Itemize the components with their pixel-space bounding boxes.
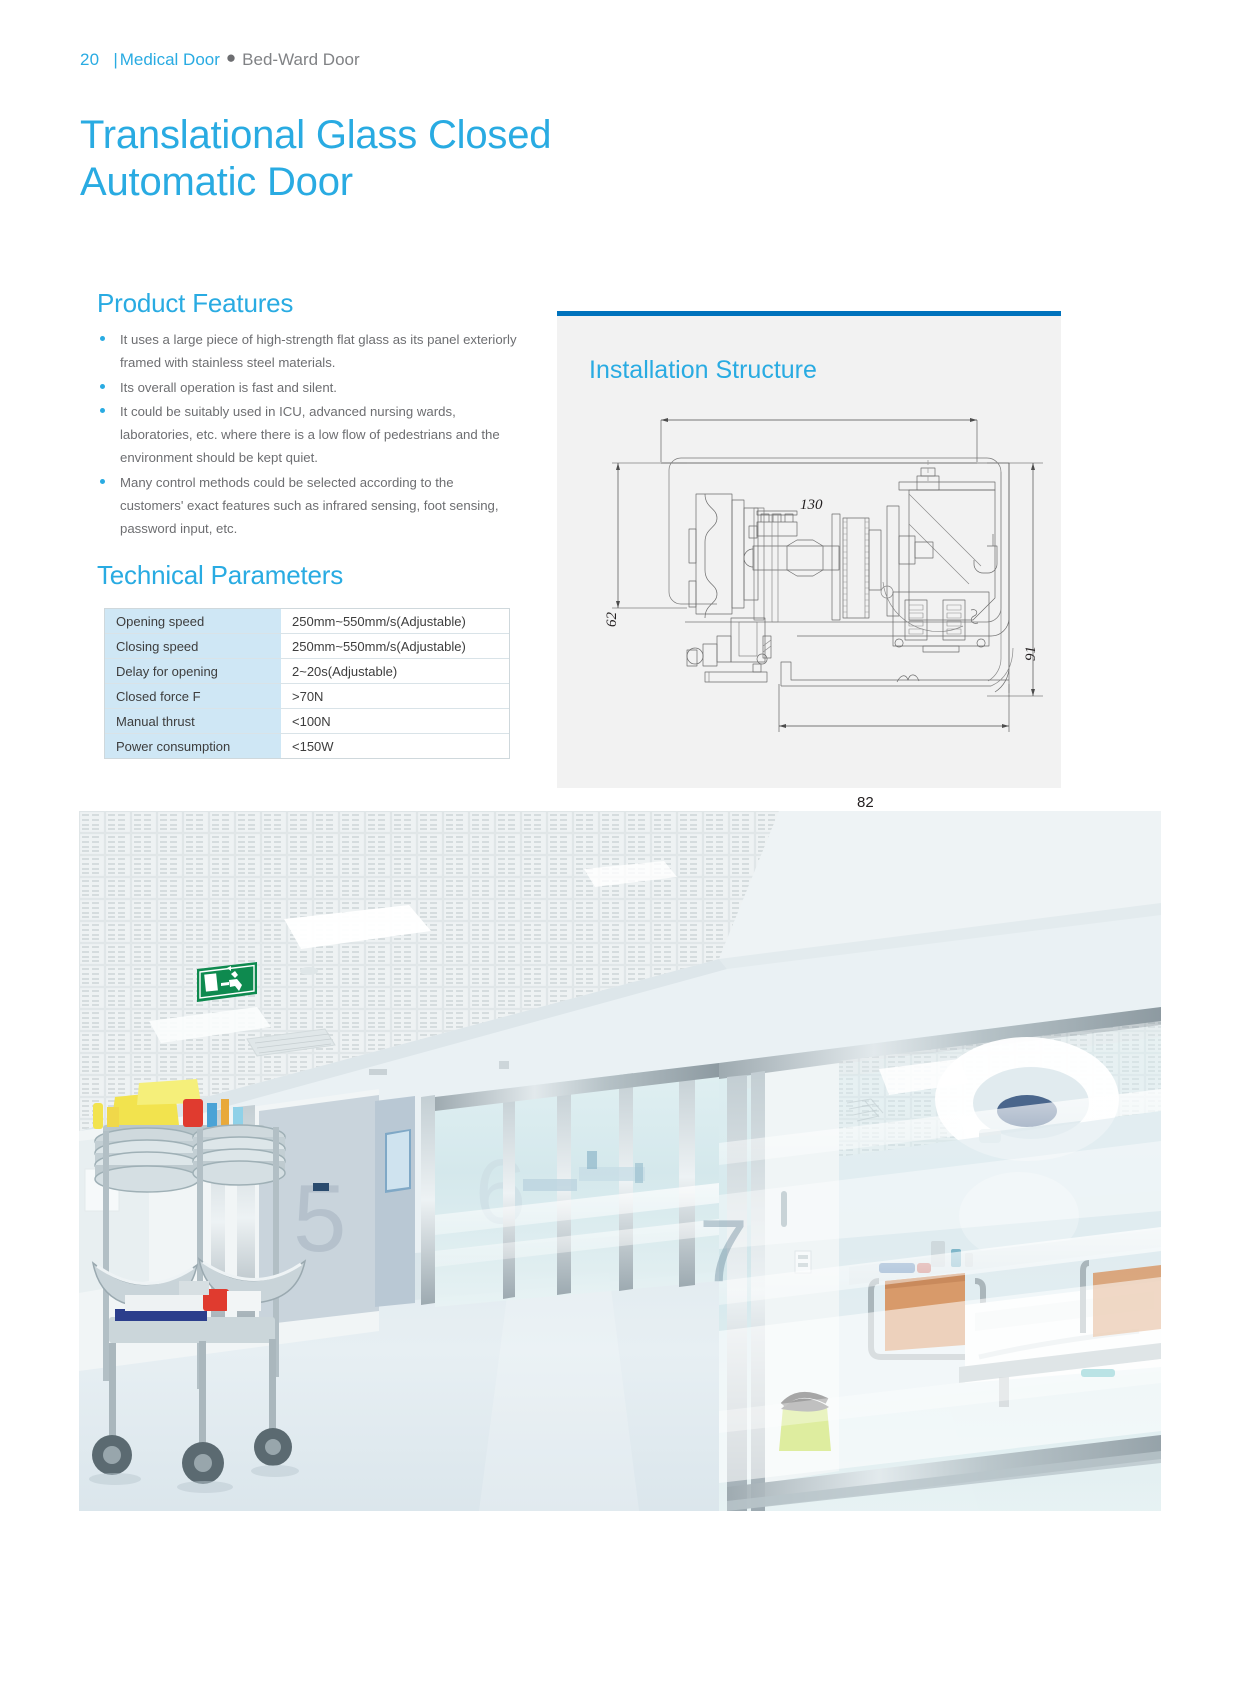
bullet-icon bbox=[100, 336, 105, 341]
table-row: Opening speed 250mm~550mm/s(Adjustable) bbox=[105, 609, 509, 634]
table-cell-key: Delay for opening bbox=[105, 659, 282, 684]
table-cell-key: Opening speed bbox=[105, 609, 282, 634]
page-title-line2: Automatic Door bbox=[80, 160, 353, 204]
list-item: Its overall operation is fast and silent… bbox=[97, 376, 517, 399]
product-features-heading: Product Features bbox=[97, 288, 293, 319]
table-cell-key: Power consumption bbox=[105, 734, 282, 759]
product-features-list: It uses a large piece of high-strength f… bbox=[97, 328, 517, 542]
table-cell-key: Closing speed bbox=[105, 634, 282, 659]
feature-text: Many control methods could be selected a… bbox=[120, 471, 517, 541]
installation-structure-heading: Installation Structure bbox=[589, 356, 817, 385]
table-cell-value: 2~20s(Adjustable) bbox=[282, 659, 510, 684]
breadcrumb: 20 | Medical Door ● Bed-Ward Door bbox=[80, 50, 360, 70]
table-row: Closed force F >70N bbox=[105, 684, 509, 709]
table-cell-key: Closed force F bbox=[105, 684, 282, 709]
table-cell-value: <150W bbox=[282, 734, 510, 759]
list-item: It could be suitably used in ICU, advanc… bbox=[97, 400, 517, 470]
breadcrumb-category: Medical Door bbox=[120, 50, 220, 70]
installation-structure-panel: Installation Structure bbox=[557, 311, 1061, 788]
table-row: Delay for opening 2~20s(Adjustable) bbox=[105, 659, 509, 684]
svg-text:7: 7 bbox=[699, 1201, 748, 1300]
page-number: 20 bbox=[80, 50, 99, 70]
svg-text:5: 5 bbox=[293, 1165, 346, 1272]
table-row: Power consumption <150W bbox=[105, 734, 509, 759]
technical-parameters-table: Opening speed 250mm~550mm/s(Adjustable) … bbox=[104, 608, 510, 759]
list-item: Many control methods could be selected a… bbox=[97, 471, 517, 541]
table-row: Manual thrust <100N bbox=[105, 709, 509, 734]
technical-parameters-heading: Technical Parameters bbox=[97, 560, 343, 591]
feature-text: It uses a large piece of high-strength f… bbox=[120, 328, 517, 375]
page-title-line1: Translational Glass Closed bbox=[80, 113, 551, 157]
breadcrumb-subcategory: Bed-Ward Door bbox=[242, 50, 359, 70]
table-cell-key: Manual thrust bbox=[105, 709, 282, 734]
breadcrumb-divider: | bbox=[113, 50, 117, 70]
dimension-label-height-left: 62 bbox=[604, 612, 621, 627]
feature-text: It could be suitably used in ICU, advanc… bbox=[120, 400, 517, 470]
installation-structure-diagram: 130 62 91 82 bbox=[557, 396, 1061, 776]
bullet-icon bbox=[100, 384, 105, 389]
panel-top-accent-bar bbox=[557, 311, 1061, 316]
table-cell-value: >70N bbox=[282, 684, 510, 709]
page-title: Translational Glass Closed Automatic Doo… bbox=[80, 112, 780, 206]
table-cell-value: <100N bbox=[282, 709, 510, 734]
product-photo: 5 6 bbox=[79, 811, 1161, 1511]
table-row: Closing speed 250mm~550mm/s(Adjustable) bbox=[105, 634, 509, 659]
breadcrumb-separator-dot: ● bbox=[226, 48, 236, 68]
dimension-label-width-top: 130 bbox=[800, 497, 823, 514]
table-cell-value: 250mm~550mm/s(Adjustable) bbox=[282, 634, 510, 659]
dimension-label-height-right: 91 bbox=[1023, 646, 1040, 661]
bullet-icon bbox=[100, 479, 105, 484]
dimension-label-width-bottom: 82 bbox=[857, 794, 874, 811]
list-item: It uses a large piece of high-strength f… bbox=[97, 328, 517, 375]
table-cell-value: 250mm~550mm/s(Adjustable) bbox=[282, 609, 510, 634]
bullet-icon bbox=[100, 408, 105, 413]
feature-text: Its overall operation is fast and silent… bbox=[120, 376, 517, 399]
